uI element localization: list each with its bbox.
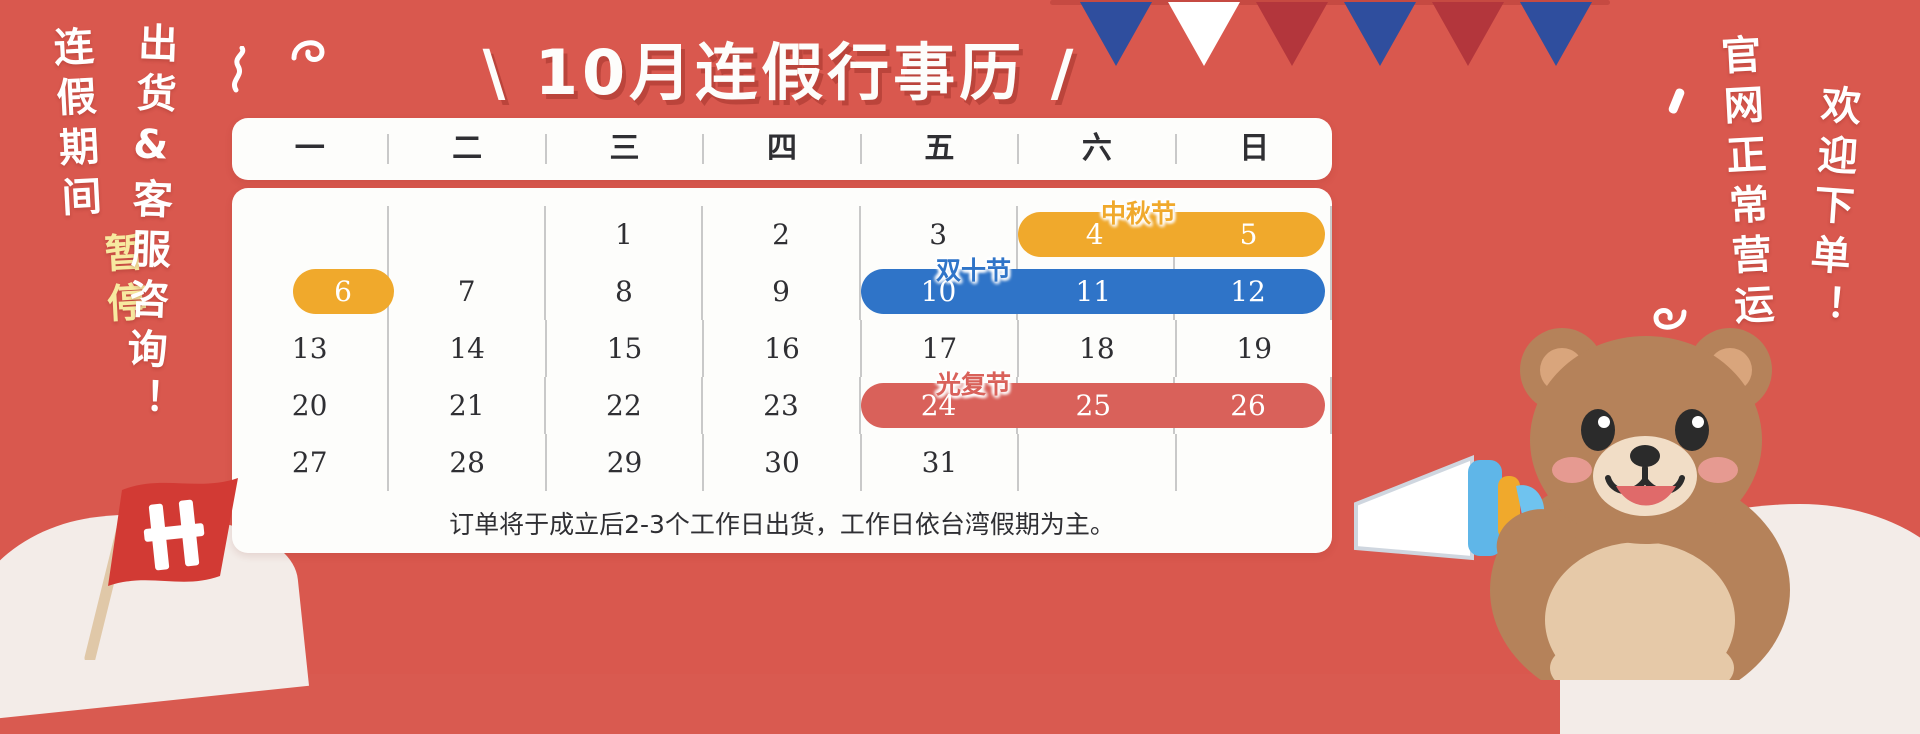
bear-nose [1630,445,1660,467]
spiral-doodle-left [288,28,332,72]
pill-day: 6 [293,275,394,308]
holiday-label-midautumn: 中秋节 [1101,194,1176,230]
weekday-thu: 四 [704,134,861,164]
day-cell[interactable]: 15 [547,320,704,377]
day-cell[interactable]: 7 [389,263,546,320]
calendar-week-4: 20 21 22 23 24 25 26 24 25 26 光复节 [232,377,1332,434]
day-cell[interactable]: 16 [704,320,861,377]
day-cell[interactable]: 30 [704,434,861,491]
calendar-weekday-header: 一 二 三 四 五 六 日 [232,118,1332,180]
taiwan-flag-illustration [70,430,250,660]
pill-day: 12 [1171,275,1326,308]
calendar-week-5: 27 28 29 30 31 [232,434,1332,491]
weekday-sun: 日 [1177,134,1332,164]
pill-day: 26 [1171,389,1326,422]
day-cell[interactable]: 18 [1019,320,1176,377]
weekday-tue: 二 [389,134,546,164]
pill-day: 5 [1172,218,1326,251]
bear-mascot-illustration [1340,290,1840,680]
left-copy-line-1: 连假期间 [49,25,99,227]
squiggle-doodle-left [228,46,268,94]
pill-day: 25 [1016,389,1171,422]
day-cell[interactable]: 20 [232,377,389,434]
day-cell[interactable]: 31 [862,434,1019,491]
day-cell[interactable] [1019,434,1176,491]
calendar-week-2: 6 7 8 9 10 11 12 6 10 11 12 双十节 [232,263,1332,320]
day-cell[interactable]: 19 [1177,320,1332,377]
day-cell[interactable]: 14 [389,320,546,377]
calendar-note: 订单将于成立后2-3个工作日出货，工作日依台湾假期为主。 [232,505,1332,541]
pill-day: 11 [1016,275,1171,308]
calendar-week-3: 13 14 15 16 17 18 19 [232,320,1332,377]
day-cell[interactable] [232,206,389,263]
weekday-sat: 六 [1019,134,1176,164]
holiday-label-doublet: 双十节 [936,251,1011,287]
weekday-fri: 五 [862,134,1019,164]
day-cell[interactable]: 1 [546,206,703,263]
day-cell[interactable]: 21 [389,377,546,434]
holiday-pill-doublet[interactable]: 10 11 12 [861,269,1325,314]
day-cell[interactable]: 13 [232,320,389,377]
holiday-pill-oct6[interactable]: 6 [293,269,394,314]
bear-eye-right [1675,409,1709,451]
day-cell[interactable]: 27 [232,434,389,491]
day-cell[interactable]: 9 [703,263,860,320]
calendar-body: 1 2 3 4 5 4 5 中秋节 6 7 8 9 10 11 12 6 10 [232,188,1332,553]
day-cell[interactable] [1177,434,1332,491]
day-cell[interactable]: 28 [389,434,546,491]
weekday-wed: 三 [547,134,704,164]
calendar: 一 二 三 四 五 六 日 1 2 3 4 5 4 5 中秋节 6 7 8 [232,118,1332,553]
bear-eye-left [1581,409,1615,451]
day-cell[interactable]: 8 [546,263,703,320]
day-cell[interactable]: 22 [546,377,703,434]
calendar-week-1: 1 2 3 4 5 4 5 中秋节 [232,206,1332,263]
day-cell[interactable]: 2 [703,206,860,263]
weekday-mon: 一 [232,134,389,164]
holiday-label-retrocession: 光复节 [936,365,1011,401]
day-cell[interactable]: 29 [547,434,704,491]
day-cell[interactable]: 23 [703,377,860,434]
day-cell[interactable] [389,206,546,263]
holiday-pill-retrocession[interactable]: 24 25 26 [861,383,1325,428]
